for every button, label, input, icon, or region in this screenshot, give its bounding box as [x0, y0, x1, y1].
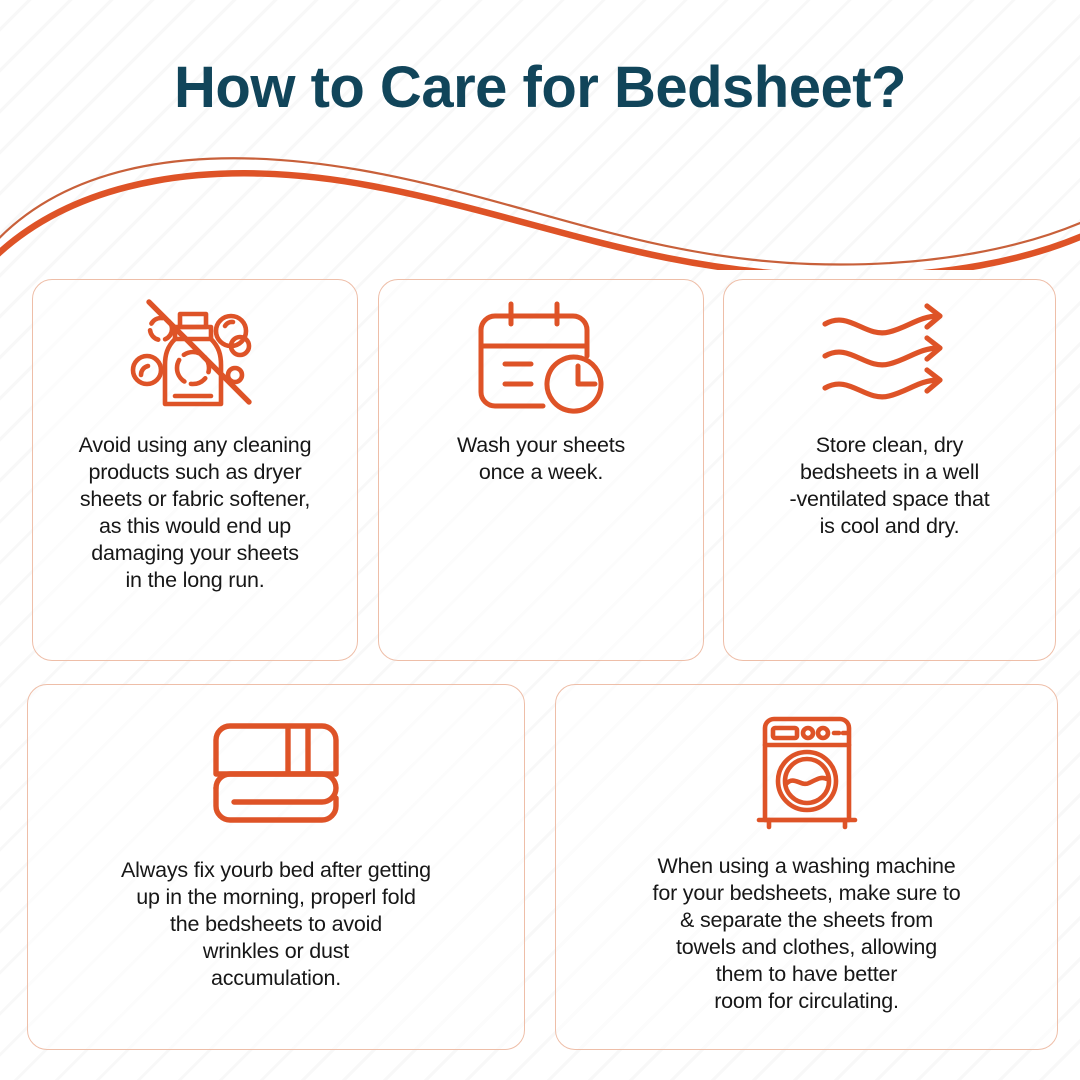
- card-description: Wash your sheets once a week.: [443, 432, 639, 486]
- card-description: Avoid using any cleaning products such a…: [65, 432, 326, 594]
- page-title-container: How to Care for Bedsheet?: [0, 54, 1080, 121]
- washing-machine-icon: [751, 708, 863, 836]
- airflow-arrows-icon: [815, 300, 965, 412]
- no-detergent-icon: [125, 290, 265, 422]
- folded-linens-icon: [206, 714, 346, 834]
- card-make-bed[interactable]: Always fix yourb bed after getting up in…: [27, 684, 525, 1050]
- card-wash-weekly[interactable]: Wash your sheets once a week.: [378, 279, 704, 661]
- page-title: How to Care for Bedsheet?: [0, 54, 1080, 121]
- card-icon-slot: [379, 286, 703, 426]
- card-icon-slot: [724, 286, 1055, 426]
- wave-thick-line: [0, 173, 1080, 270]
- card-washing-machine[interactable]: When using a washing machine for your be…: [555, 684, 1058, 1050]
- infographic-page: How to Care for Bedsheet?: [0, 0, 1080, 1080]
- card-icon-slot: [556, 697, 1057, 847]
- card-icon-slot: [28, 699, 524, 849]
- card-store-ventilated[interactable]: Store clean, dry bedsheets in a well -ve…: [723, 279, 1056, 661]
- wave-thin-line: [0, 158, 1080, 264]
- card-icon-slot: [33, 286, 357, 426]
- card-description: When using a washing machine for your be…: [639, 853, 975, 1015]
- card-description: Store clean, dry bedsheets in a well -ve…: [776, 432, 1004, 540]
- wave-divider: [0, 140, 1080, 270]
- card-description: Always fix yourb bed after getting up in…: [107, 857, 445, 992]
- card-avoid-cleaning-products[interactable]: Avoid using any cleaning products such a…: [32, 279, 358, 661]
- calendar-clock-icon: [467, 292, 615, 420]
